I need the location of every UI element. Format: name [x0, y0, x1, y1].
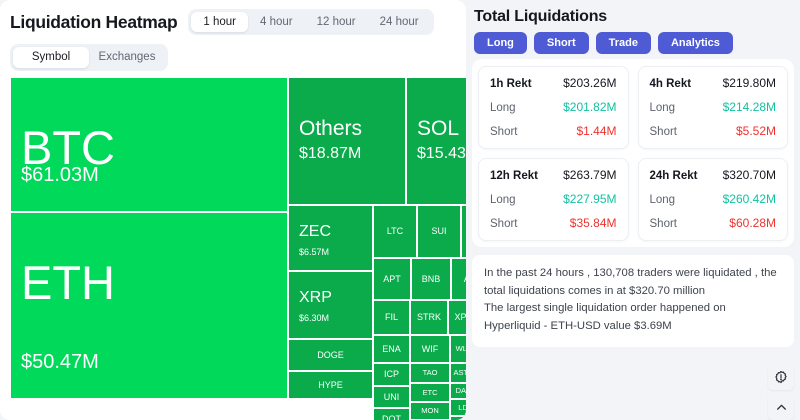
treemap-tile-ldo[interactable]: LDO — [450, 399, 466, 416]
tile-symbol: XRP — [299, 290, 332, 306]
treemap-tile-hype[interactable]: HYPE — [288, 371, 373, 399]
range-tab-1-hour[interactable]: 1 hour — [191, 12, 248, 32]
summary-line-1: In the past 24 hours , 130,708 traders w… — [484, 265, 782, 300]
tile-value: $18.87M — [299, 146, 361, 162]
stat-row-period: 12h Rekt $263.79M — [490, 168, 617, 182]
range-tab-24-hour[interactable]: 24 hour — [368, 12, 431, 32]
stat-period-label: 4h Rekt — [650, 78, 692, 90]
short-button[interactable]: Short — [534, 32, 589, 54]
tile-symbol: Others — [299, 118, 362, 139]
treemap-tile-ltc[interactable]: LTC — [373, 205, 417, 258]
stat-row-long: Long $214.28M — [650, 100, 777, 114]
treemap-tile-others[interactable]: Others$18.87M — [288, 77, 406, 205]
stat-row-short: Short $1.44M — [490, 124, 617, 138]
trade-button[interactable]: Trade — [596, 32, 651, 54]
tile-symbol: STRK — [417, 313, 441, 322]
analytics-button[interactable]: Analytics — [658, 32, 733, 54]
treemap-tile-aster[interactable]: ASTER — [450, 363, 466, 383]
total-liquidations-panel: Total Liquidations Long Short Trade Anal… — [466, 0, 800, 420]
tile-symbol: TAO — [423, 369, 438, 377]
tile-symbol: XPL — [454, 313, 466, 322]
treemap-tile-mon[interactable]: MON — [410, 402, 450, 420]
range-tab-12-hour[interactable]: 12 hour — [305, 12, 368, 32]
stat-period-label: 1h Rekt — [490, 78, 532, 90]
stat-short-value: $5.52M — [736, 124, 776, 138]
stat-long-label: Long — [490, 102, 516, 114]
treemap-tile-virtual[interactable]: VIRTUAL — [450, 416, 466, 420]
stat-period-value: $203.26M — [563, 76, 616, 90]
alert-badge-icon — [774, 370, 788, 384]
treemap-tile-doge[interactable]: DOGE — [288, 339, 373, 371]
stat-long-value: $260.42M — [723, 192, 776, 206]
mode-tab-exchanges[interactable]: Exchanges — [89, 47, 165, 68]
total-liquidations-title: Total Liquidations — [474, 8, 794, 26]
liquidation-heatmap-panel: Liquidation Heatmap 1 hour 4 hour 12 hou… — [0, 0, 466, 420]
treemap-tile-fil[interactable]: FIL — [373, 300, 410, 335]
mode-tab-symbol[interactable]: Symbol — [13, 47, 89, 68]
liquidation-summary: In the past 24 hours , 130,708 traders w… — [472, 255, 794, 347]
tile-symbol: ZEC — [299, 224, 331, 240]
treemap-tile-btc[interactable]: BTC$61.03M — [10, 77, 288, 212]
tile-symbol: DOT — [382, 415, 401, 420]
treemap-tile-sol[interactable]: SOL$15.43M — [406, 77, 466, 205]
stat-row-period: 1h Rekt $203.26M — [490, 76, 617, 90]
tile-symbol: HYPE — [318, 381, 343, 390]
stat-period-value: $219.80M — [723, 76, 776, 90]
treemap-tile-zec[interactable]: ZEC$6.57M — [288, 205, 373, 271]
stat-long-label: Long — [490, 194, 516, 206]
tile-symbol: LTC — [387, 227, 403, 236]
tile-value: $15.43M — [417, 146, 466, 162]
treemap-tile-apt[interactable]: APT — [373, 258, 411, 300]
stat-short-value: $35.84M — [570, 216, 617, 230]
stat-period-value: $263.79M — [563, 168, 616, 182]
liquidation-action-buttons: Long Short Trade Analytics — [474, 32, 794, 54]
treemap-tile-tao[interactable]: TAO — [410, 363, 450, 383]
tile-symbol: ICP — [384, 370, 399, 379]
tile-symbol: ASTER — [453, 369, 466, 377]
treemap-tile-wld[interactable]: WLD — [450, 335, 466, 363]
heatmap-mode-tabs: Symbol Exchanges — [10, 44, 168, 71]
tile-symbol: APT — [383, 275, 401, 284]
long-button[interactable]: Long — [474, 32, 527, 54]
stat-period-value: $320.70M — [723, 168, 776, 182]
stat-short-value: $1.44M — [576, 124, 616, 138]
tile-value: $6.30M — [299, 314, 329, 323]
tile-symbol: WLD — [456, 345, 466, 353]
tile-symbol: DOGE — [317, 351, 344, 360]
tile-value: $61.03M — [21, 165, 99, 185]
stat-card-1h[interactable]: 1h Rekt $203.26M Long $201.82M Short $1.… — [478, 66, 629, 149]
stat-short-label: Short — [650, 126, 678, 138]
stat-row-short: Short $5.52M — [650, 124, 777, 138]
stat-long-value: $201.82M — [563, 100, 616, 114]
app-root: Liquidation Heatmap 1 hour 4 hour 12 hou… — [0, 0, 800, 420]
alert-badge-icon-button[interactable] — [768, 364, 794, 390]
treemap-tile-bnb[interactable]: BNB — [411, 258, 451, 300]
tile-symbol: BNB — [422, 275, 441, 284]
tile-symbol: WIF — [422, 345, 439, 354]
treemap-chart: BTC$61.03METH$50.47MOthers$18.87MSOL$15.… — [10, 77, 466, 399]
time-range-tabs: 1 hour 4 hour 12 hour 24 hour — [188, 9, 433, 35]
stat-row-long: Long $227.95M — [490, 192, 617, 206]
stat-period-label: 24h Rekt — [650, 170, 698, 182]
tile-symbol: ETH — [21, 259, 115, 306]
heatmap-header: Liquidation Heatmap 1 hour 4 hour 12 hou… — [0, 0, 466, 36]
tile-symbol: MON — [421, 407, 439, 415]
treemap-tile-xrp[interactable]: XRP$6.30M — [288, 271, 373, 339]
tile-value: $6.57M — [299, 248, 329, 257]
treemap-tile-sui[interactable]: SUI — [417, 205, 461, 258]
stat-period-label: 12h Rekt — [490, 170, 538, 182]
stat-cards-container: 1h Rekt $203.26M Long $201.82M Short $1.… — [472, 59, 794, 247]
stat-long-label: Long — [650, 194, 676, 206]
stat-short-value: $60.28M — [729, 216, 776, 230]
stat-row-period: 24h Rekt $320.70M — [650, 168, 777, 182]
stat-card-12h[interactable]: 12h Rekt $263.79M Long $227.95M Short $3… — [478, 158, 629, 241]
stat-row-long: Long $260.42M — [650, 192, 777, 206]
treemap-tile-xpl[interactable]: XPL — [448, 300, 466, 335]
stat-card-24h[interactable]: 24h Rekt $320.70M Long $260.42M Short $6… — [638, 158, 789, 241]
tile-symbol: LDO — [458, 404, 466, 412]
summary-line-2: The largest single liquidation order hap… — [484, 300, 782, 335]
tile-symbol: UNI — [384, 393, 400, 402]
stat-long-value: $227.95M — [563, 192, 616, 206]
stat-row-period: 4h Rekt $219.80M — [650, 76, 777, 90]
treemap-tile-ena[interactable]: ENA — [373, 335, 410, 363]
page-title: Liquidation Heatmap — [10, 12, 177, 33]
stat-row-short: Short $35.84M — [490, 216, 617, 230]
treemap-tile-strk[interactable]: STRK — [410, 300, 448, 335]
treemap-tile-icp[interactable]: ICP — [373, 363, 410, 386]
stat-long-label: Long — [650, 102, 676, 114]
tile-symbol: DASH — [456, 387, 466, 395]
scroll-to-top-button[interactable] — [768, 394, 794, 420]
stat-cards-grid: 1h Rekt $203.26M Long $201.82M Short $1.… — [478, 66, 788, 241]
tile-value: $50.47M — [21, 352, 99, 372]
treemap-tile-etc[interactable]: ETC — [410, 383, 450, 402]
stat-row-short: Short $60.28M — [650, 216, 777, 230]
tile-symbol: ENA — [382, 345, 401, 354]
stat-long-value: $214.28M — [723, 100, 776, 114]
stat-row-long: Long $201.82M — [490, 100, 617, 114]
tile-symbol: ETC — [423, 389, 438, 397]
stat-short-label: Short — [650, 218, 678, 230]
stat-short-label: Short — [490, 126, 518, 138]
treemap-tile-dash[interactable]: DASH — [450, 383, 466, 399]
treemap-tile-eth[interactable]: ETH$50.47M — [10, 212, 288, 399]
treemap-tile-wif[interactable]: WIF — [410, 335, 450, 363]
stat-short-label: Short — [490, 218, 518, 230]
tile-symbol: SOL — [417, 118, 459, 139]
tile-symbol: SUI — [431, 227, 446, 236]
treemap-tile-ada[interactable]: ADA — [451, 258, 466, 300]
tile-symbol: FIL — [385, 313, 398, 322]
stat-card-4h[interactable]: 4h Rekt $219.80M Long $214.28M Short $5.… — [638, 66, 789, 149]
treemap-tile-dot[interactable]: DOT — [373, 408, 410, 420]
treemap-tile-uni[interactable]: UNI — [373, 386, 410, 408]
range-tab-4-hour[interactable]: 4 hour — [248, 12, 305, 32]
chevron-up-icon — [775, 401, 788, 414]
